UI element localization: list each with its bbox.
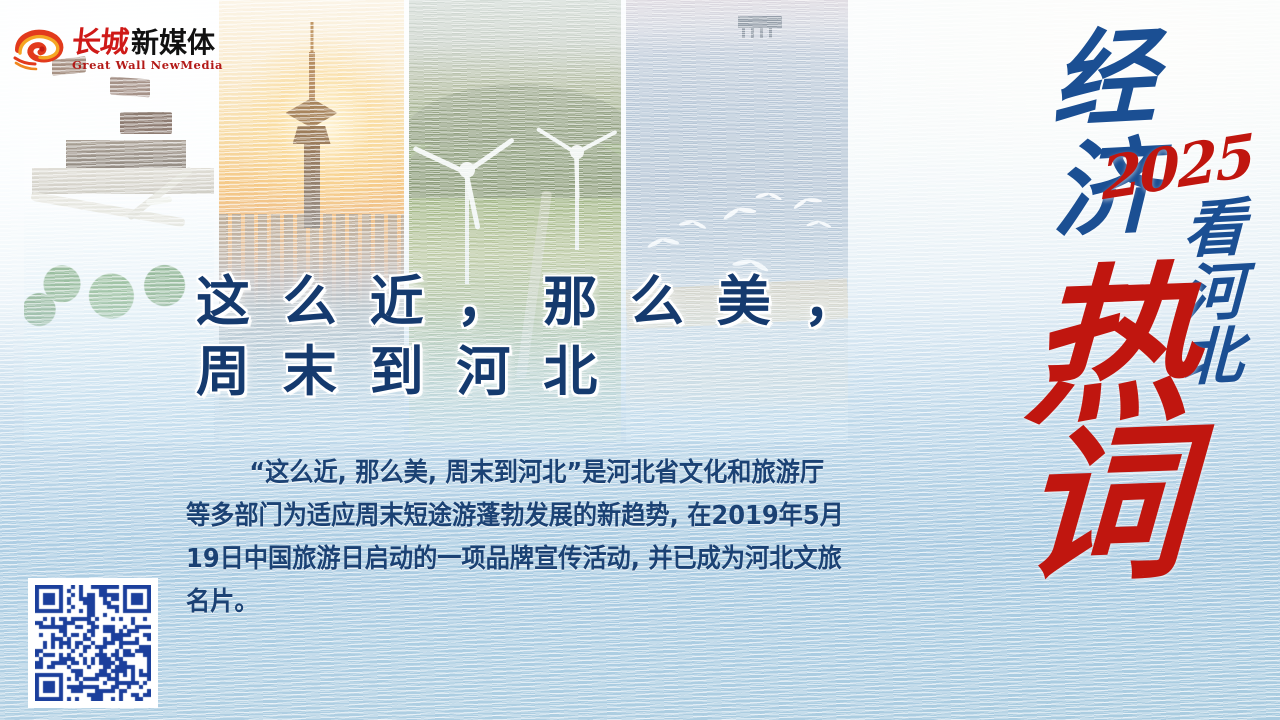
- description-line-4: 名片。: [186, 581, 895, 624]
- description-paragraph: “这么近, 那么美, 周末到河北”是河北省文化和旅游厅 等多部门为适应周末短途游…: [186, 452, 895, 625]
- great-wall-swirl-logo-icon: [12, 28, 66, 72]
- description-line-3: 19日中国旅游日启动的一项品牌宣传活动, 并已成为河北文旅: [186, 538, 895, 581]
- qr-code[interactable]: [28, 578, 158, 708]
- calligraphy-reci: 热词: [1009, 255, 1178, 577]
- calligraphy-block: 经济 2025 看河北 热词: [960, 0, 1280, 660]
- logo-cn-black: 新媒体: [131, 29, 215, 57]
- calligraphy-jingji: 经济: [1046, 21, 1144, 246]
- description-line-1: “这么近, 那么美, 周末到河北”是河北省文化和旅游厅: [186, 452, 895, 495]
- page-title: 这 么 近 ， 那 么 美 ， 周 末 到 河 北: [196, 266, 865, 406]
- qr-code-image: [35, 585, 151, 701]
- brand-logo-text: 长城 新媒体 Great Wall NewMedia: [72, 28, 223, 72]
- logo-en-text: Great Wall NewMedia: [72, 60, 223, 72]
- poster-canvas: 古镇水岸航拍 城市电视塔日落 草原风电场: [0, 0, 1280, 720]
- brand-logo[interactable]: 长城 新媒体 Great Wall NewMedia: [12, 28, 223, 72]
- logo-cn-red: 长城: [70, 28, 129, 57]
- description-line-2: 等多部门为适应周末短途游蓬勃发展的新趋势, 在2019年5月: [186, 495, 895, 538]
